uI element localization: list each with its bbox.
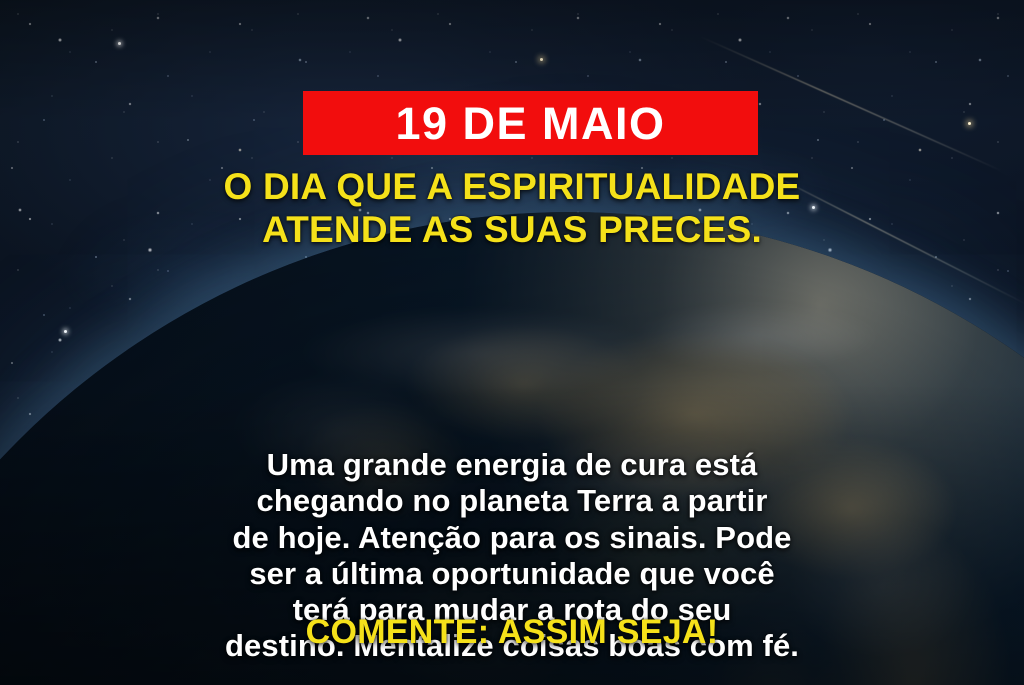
poster-canvas: 19 DE MAIO O DIA QUE A ESPIRITUALIDADE A… [0, 0, 1024, 685]
call-to-action: COMENTE: ASSIM SEJA! [0, 613, 1024, 652]
body-line-4: ser a última oportunidade que você [52, 556, 972, 592]
headline-line-2: ATENDE AS SUAS PRECES. [0, 209, 1024, 252]
body-line-1: Uma grande energia de cura está [52, 447, 972, 483]
headline-line-1: O DIA QUE A ESPIRITUALIDADE [224, 166, 801, 207]
body-line-2: chegando no planeta Terra a partir [52, 483, 972, 519]
body-line-3: de hoje. Atenção para os sinais. Pode [52, 520, 972, 556]
call-to-action-text: COMENTE: ASSIM SEJA! [306, 613, 719, 651]
date-banner-text: 19 DE MAIO [395, 101, 665, 146]
poster-content: 19 DE MAIO O DIA QUE A ESPIRITUALIDADE A… [0, 0, 1024, 685]
headline: O DIA QUE A ESPIRITUALIDADE ATENDE AS SU… [0, 166, 1024, 252]
date-banner: 19 DE MAIO [303, 91, 758, 155]
